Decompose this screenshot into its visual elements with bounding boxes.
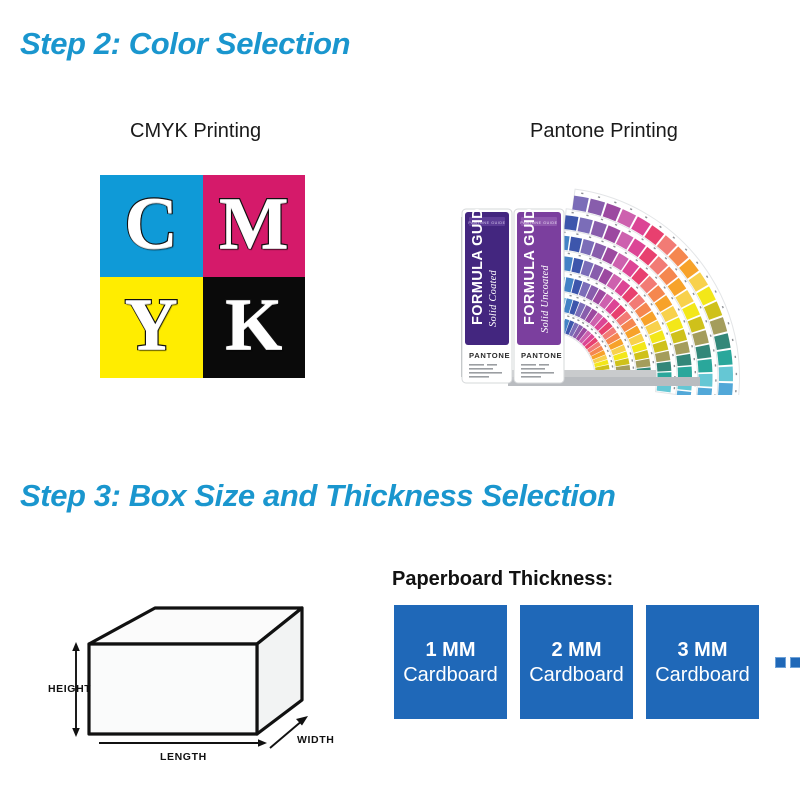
box-diagram-svg: HEIGHT LENGTH WIDTH [45,580,365,765]
cmyk-swatch-yellow: Y [100,277,203,379]
cmyk-letter-m: M [219,187,289,261]
book2-brand: PANTONE [521,351,562,360]
cmyk-swatch-black: K [203,277,306,379]
thickness-value-3mm: 3 MM [678,640,728,660]
cmyk-swatch-magenta: M [203,175,306,277]
height-arrowhead-bottom [72,728,80,737]
paperboard-thickness-title: Paperboard Thickness: [392,568,613,591]
width-label: WIDTH [297,734,334,746]
thickness-card-1mm[interactable]: 1 MM Cardboard [394,605,507,719]
book1-subtitle: Solid Coated [488,270,499,327]
thickness-card-3mm[interactable]: 3 MM Cardboard [646,605,759,719]
length-arrowhead [258,739,267,747]
infographic-canvas: Step 2: Color Selection CMYK Printing C … [0,0,800,800]
thickness-material-1mm: Cardboard [403,665,498,685]
more-thickness-options-ellipsis [775,657,800,668]
cmyk-letter-k: K [225,288,283,362]
pantone-fan-deck-illustration: PANTONE GUIDE FORMULA GUIDE Solid Coated… [450,165,760,395]
cmyk-section-title: CMYK Printing [130,120,261,143]
pantone-svg: PANTONE GUIDE FORMULA GUIDE Solid Coated… [450,165,760,395]
thickness-card-2mm[interactable]: 2 MM Cardboard [520,605,633,719]
thickness-value-1mm: 1 MM [426,640,476,660]
book2-subtitle: Solid Uncoated [540,265,551,333]
thickness-material-2mm: Cardboard [529,665,624,685]
fan-deck-arcs [544,189,739,395]
step-2-heading: Step 2: Color Selection [20,26,350,62]
height-label: HEIGHT [48,683,91,695]
pantone-book-solid-coated: PANTONE GUIDE FORMULA GUIDE Solid Coated… [462,198,512,383]
thickness-value-2mm: 2 MM [552,640,602,660]
paperboard-thickness-options: 1 MM Cardboard 2 MM Cardboard 3 MM Cardb… [394,605,800,719]
ellipsis-square-1 [775,657,786,668]
cmyk-color-swatch-grid: C M Y K [100,175,305,378]
thickness-material-3mm: Cardboard [655,665,750,685]
book2-title: FORMULA GUIDE [522,198,538,325]
book1-brand: PANTONE [469,351,510,360]
cmyk-swatch-cyan: C [100,175,203,277]
height-arrowhead-top [72,642,80,651]
box-3d-shape [89,608,302,734]
length-label: LENGTH [160,751,207,763]
cmyk-letter-c: C [125,187,178,261]
cmyk-letter-y: Y [125,288,178,362]
ellipsis-square-2 [790,657,800,668]
pantone-book-solid-uncoated: PANTONE GUIDE FORMULA GUIDE Solid Uncoat… [514,198,564,383]
book1-title: FORMULA GUIDE [470,198,486,325]
step-3-heading: Step 3: Box Size and Thickness Selection [20,478,616,514]
pantone-section-title: Pantone Printing [530,120,678,143]
box-dimensions-diagram: HEIGHT LENGTH WIDTH [45,580,365,765]
